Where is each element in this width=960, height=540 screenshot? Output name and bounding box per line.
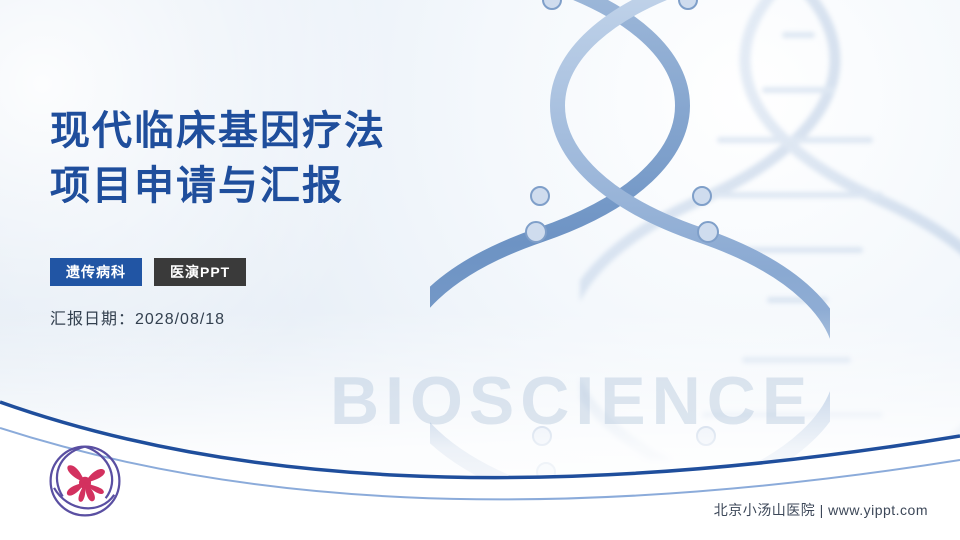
page-title: 现代临床基因疗法 项目申请与汇报 — [50, 104, 550, 214]
title-line-primary: 现代临床基因疗法 — [50, 104, 550, 159]
hospital-logo-icon — [42, 438, 128, 524]
tag-row: 遗传病科 医演PPT — [50, 258, 246, 286]
presentation-title-slide: BIOSCIENCE 现代临床基因疗法 项目申请与汇报 遗传病科 医演PPT 汇… — [0, 0, 960, 540]
tag-template[interactable]: 医演PPT — [154, 258, 246, 286]
footer-credit: 北京小汤山医院 | www.yippt.com — [714, 500, 928, 520]
title-line-secondary: 项目申请与汇报 — [50, 159, 550, 214]
tag-department[interactable]: 遗传病科 — [50, 258, 142, 286]
report-date-label: 汇报日期：2028/08/18 — [50, 305, 225, 329]
